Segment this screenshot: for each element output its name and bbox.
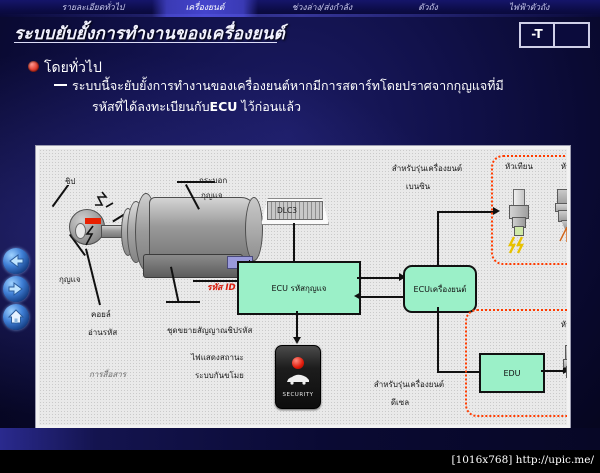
arrow-ecu-engine-to-key [354,292,361,300]
top-bar-sheen [0,14,600,17]
tab-general-label: รายละเอียดทั่วไป [62,3,125,13]
label-reader-coil-line1: คอยล์ [91,309,111,320]
wire-to-gasoline-group [437,211,495,213]
tab-engine-label: เครื่องยนต์ [186,3,225,13]
spacer-m [249,260,250,262]
label-injector-diesel: หัวฉีด [547,319,570,330]
ecu-engine-box[interactable]: ECUเครื่องยนต์ [403,265,477,313]
label-diesel-line1: สำหรับรุ่นเครื่องยนต์ [339,379,479,390]
bullet-line2-post: ไว้ก่อนแล้ว [237,99,301,114]
label-communication: การสื่อสาร [89,369,126,380]
spacer-l [250,261,251,263]
label-security-indicator-line2: ระบบกันขโมย [195,370,244,381]
label-gasoline-line2: เบนซิน [357,181,479,192]
home-icon[interactable] [3,304,29,330]
injector-top-spray-icon [555,227,570,243]
bullet-marker-icon [28,61,39,72]
car-icon [285,373,311,385]
injector-bottom-nozzle [569,376,570,386]
system-diagram: ชิป กระบอก กุญแจ กุญแจ คอยล์ อ่านรหัส กา… [36,146,570,428]
injector-bottom-body2 [566,366,570,378]
top-navigation-bar: รายละเอียดทั่วไป เครื่องยนต์ ช่วงล่าง/ส่… [0,0,600,17]
slide-viewer: รายละเอียดทั่วไป เครื่องยนต์ ช่วงล่าง/ส่… [0,0,600,473]
wire-dlc3-to-ecu-key [293,223,295,261]
label-injector-gasoline: หัวฉีด [547,161,570,172]
label-chip: ชิป [65,176,76,187]
label-spark-plug: หัวเทียน [495,161,543,172]
wire-ecu-key-to-engine [357,277,401,279]
label-key-cylinder-line2: กุญแจ [201,190,223,201]
wire-ecu-key-to-security [296,311,298,339]
key-cylinder-barrel-art [149,197,257,261]
wire-ecu-engine-to-key [359,296,403,298]
chip-signal-icon [83,225,101,247]
wire-amplifier-to-ecu-key [193,280,237,282]
label-diesel-line2: ดีเซล [339,397,461,408]
spark-icon [507,235,529,255]
security-indicator-art[interactable]: SECURITY [275,345,321,409]
chip-spark-icon [93,191,115,211]
key-cylinder-cap-art [245,197,263,261]
wire-engine-trunk-down [437,307,439,373]
tab-body-label: ตัวถัง [418,3,438,13]
bottom-toolbar: ← ╱ ▮ → [0,428,600,450]
label-security-indicator-line1: ไฟแสดงสถานะ [191,352,244,363]
bullet-level2-dash [54,84,67,86]
label-key-cylinder-line1: กระบอก [199,175,227,186]
forward-arrow-icon[interactable] [3,248,29,274]
leader-amplifier-h [166,301,200,303]
chip-red-marker [85,218,101,224]
model-code-box-left[interactable]: -T [519,22,555,48]
ecu-key-code-box[interactable]: ECU รหัสกุญแจ [237,261,361,315]
bullet-line2-pre: รหัสที่ได้ลงทะเบียนกับ [92,99,210,114]
back-arrow-icon[interactable] [3,276,29,302]
edu-label: EDU [503,369,520,378]
label-dlc3: DLC3 [277,205,297,216]
security-led-icon [292,357,304,369]
security-indicator-label: SECURITY [276,392,320,398]
bullet-line2-ecu: ECU [210,99,238,114]
arrow-ecu-key-to-security [293,337,301,344]
wire-engine-trunk-up [437,211,439,267]
page-title-underline [14,42,277,43]
model-code-box-right[interactable] [553,22,590,48]
ecu-engine-label: ECUเครื่องยนต์ [414,283,467,296]
label-reader-coil-line2: อ่านรหัส [88,327,117,338]
label-chip-signal-amplifier: ชุดขยายสัญญาณชิปรหัส [167,325,252,336]
bullet-level2-text-line2: รหัสที่ได้ลงทะเบียนกับECU ไว้ก่อนแล้ว [92,97,301,117]
label-key: กุญแจ [59,274,81,285]
injector-bottom-spray-icon [563,383,570,399]
label-gasoline-line1: สำหรับรุ่นเครื่องยนต์ [357,163,497,174]
tab-chassis-drivetrain-label: ช่วงล่าง/ส่งกำลัง [292,3,352,13]
bullet-level2-text: ระบบนี้จะยับยั้งการทำงานของเครื่องยนต์หา… [72,76,504,96]
spacer-t [243,261,244,263]
watermark-text: [1016x768] http://upic.me/ [451,454,594,466]
ecu-key-code-label: ECU รหัสกุญแจ [272,282,327,295]
label-id-code: รหัส ID [207,283,236,294]
edu-box[interactable]: EDU [479,353,545,393]
spacer-aa [246,261,247,263]
tab-body-electrical-label: ไฟฟ้าตัวถัง [509,3,550,13]
